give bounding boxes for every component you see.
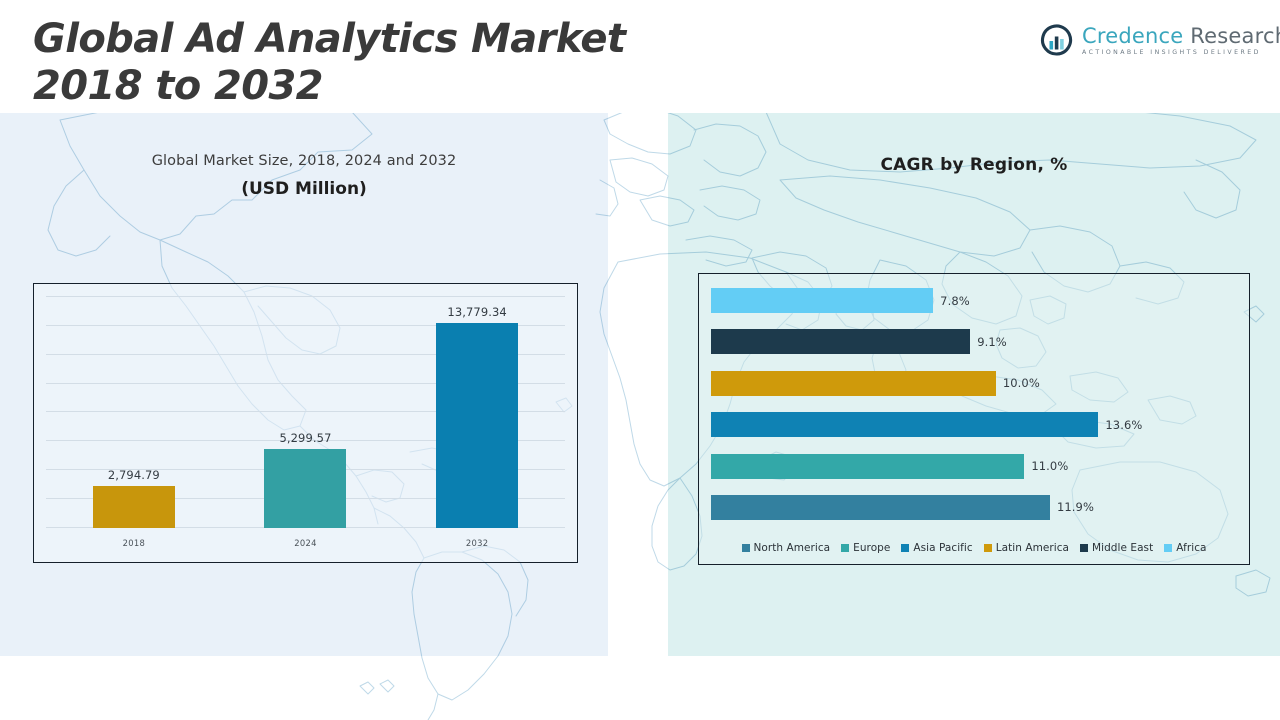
bar	[711, 495, 1050, 520]
legend-swatch-icon	[1164, 544, 1172, 552]
legend-swatch-icon	[1080, 544, 1088, 552]
logo-word-2: Research	[1190, 24, 1280, 48]
market-size-panel: Global Market Size, 2018, 2024 and 2032 …	[0, 113, 608, 656]
market-size-plot-area: 2,794.795,299.5713,779.34 201820242032	[34, 284, 577, 562]
legend-label: Middle East	[1092, 542, 1153, 554]
bar	[711, 412, 1098, 437]
bar-value-label: 13,779.34	[447, 305, 506, 319]
bar-row: 9.1%	[711, 329, 1239, 354]
credence-research-logo: Credence Research Actionable Insights De…	[1040, 24, 1280, 58]
legend-item[interactable]: Europe	[841, 542, 890, 554]
page-title-line-1: Global Ad Analytics Market	[33, 16, 733, 63]
logo-tagline: Actionable Insights Delivered	[1082, 48, 1280, 58]
bar-value-label: 2,794.79	[108, 468, 160, 482]
cagr-chart-title: CAGR by Region, %	[668, 155, 1280, 175]
legend-swatch-icon	[984, 544, 992, 552]
cagr-bars: 7.8%9.1%10.0%13.6%11.0%11.9%	[711, 288, 1239, 520]
market-size-chart-title: Global Market Size, 2018, 2024 and 2032	[0, 153, 608, 169]
bar-value-label: 13.6%	[1105, 418, 1142, 432]
cagr-by-region-bar-chart: 7.8%9.1%10.0%13.6%11.0%11.9% North Ameri…	[698, 273, 1250, 565]
bar	[93, 486, 175, 528]
bar	[711, 371, 996, 396]
bar-value-label: 9.1%	[977, 335, 1007, 349]
page-title-line-2: 2018 to 2032	[33, 63, 733, 110]
market-size-bars: 2,794.795,299.5713,779.34	[48, 296, 563, 528]
page-title: Global Ad Analytics Market 2018 to 2032	[33, 16, 733, 110]
bar-value-label: 10.0%	[1003, 376, 1040, 390]
legend-item[interactable]: North America	[742, 542, 831, 554]
header-bar: Global Ad Analytics Market 2018 to 2032 …	[0, 0, 1280, 113]
bar-value-label: 5,299.57	[279, 431, 331, 445]
legend-item[interactable]: Latin America	[984, 542, 1069, 554]
bar-row: 10.0%	[711, 371, 1239, 396]
x-axis-label: 2024	[227, 538, 384, 548]
market-size-chart-subtitle: (USD Million)	[0, 179, 608, 199]
infographic-page: Global Ad Analytics Market 2018 to 2032 …	[0, 0, 1280, 720]
legend-item[interactable]: Asia Pacific	[901, 542, 972, 554]
legend-item[interactable]: Middle East	[1080, 542, 1153, 554]
market-size-bar-chart: 2,794.795,299.5713,779.34 201820242032	[33, 283, 578, 563]
market-size-x-axis-labels: 201820242032	[48, 532, 563, 554]
cagr-legend: North AmericaEuropeAsia PacificLatin Ame…	[699, 542, 1249, 554]
logo-word-1: Credence	[1082, 24, 1183, 48]
bar-value-label: 11.0%	[1031, 459, 1068, 473]
legend-swatch-icon	[901, 544, 909, 552]
x-axis-label: 2032	[399, 538, 556, 548]
legend-label: North America	[754, 542, 831, 554]
bar-column: 5,299.57	[227, 296, 384, 528]
legend-swatch-icon	[841, 544, 849, 552]
legend-item[interactable]: Africa	[1164, 542, 1206, 554]
bar-chart-circle-icon	[1040, 24, 1074, 58]
bar-row: 7.8%	[711, 288, 1239, 313]
logo-wordmark: Credence Research	[1082, 25, 1280, 47]
legend-label: Africa	[1176, 542, 1206, 554]
bar-column: 13,779.34	[399, 296, 556, 528]
cagr-by-region-panel: CAGR by Region, % 7.8%9.1%10.0%13.6%11.0…	[668, 113, 1280, 656]
bar	[711, 454, 1024, 479]
legend-label: Latin America	[996, 542, 1069, 554]
legend-label: Asia Pacific	[913, 542, 972, 554]
x-axis-label: 2018	[55, 538, 212, 548]
bar-value-label: 7.8%	[940, 294, 970, 308]
bar	[436, 323, 518, 528]
bar	[711, 329, 970, 354]
logo-text-block: Credence Research Actionable Insights De…	[1082, 25, 1280, 58]
bar	[264, 449, 346, 528]
bar-value-label: 11.9%	[1057, 500, 1094, 514]
legend-label: Europe	[853, 542, 890, 554]
legend-swatch-icon	[742, 544, 750, 552]
bar	[711, 288, 933, 313]
bar-column: 2,794.79	[55, 296, 212, 528]
bar-row: 11.9%	[711, 495, 1239, 520]
bar-row: 13.6%	[711, 412, 1239, 437]
bar-row: 11.0%	[711, 454, 1239, 479]
